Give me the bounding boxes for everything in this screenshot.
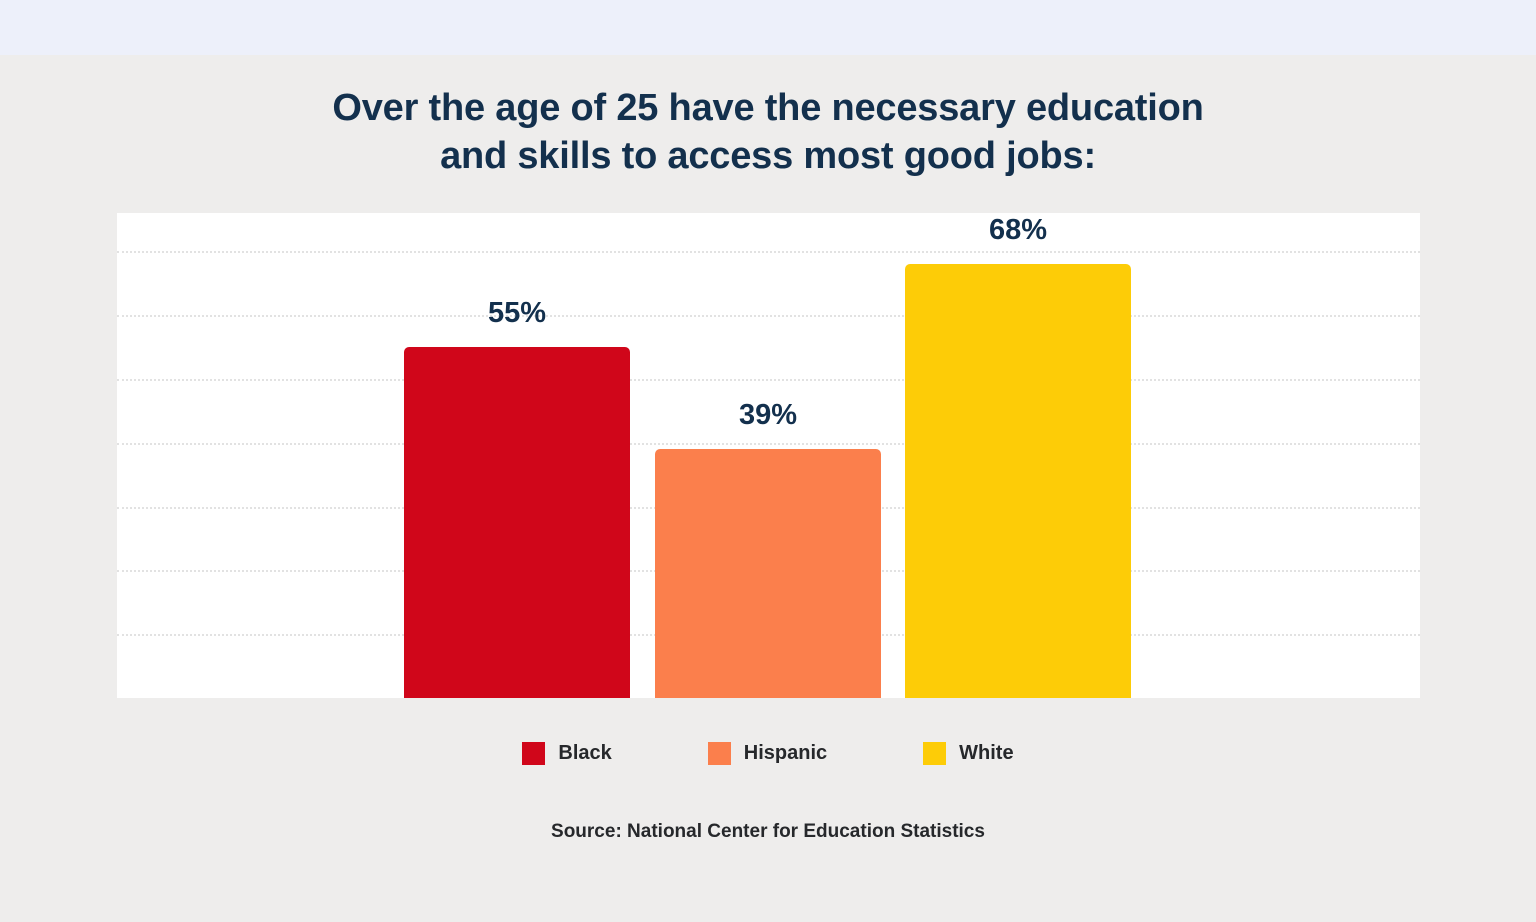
bar-value-label-black: 55% bbox=[404, 297, 630, 330]
bar-value-label-hispanic: 39% bbox=[655, 399, 881, 432]
legend-swatch-icon bbox=[708, 742, 731, 765]
bar-value-label-white: 68% bbox=[905, 214, 1131, 247]
chart-legend: BlackHispanicWhite bbox=[0, 742, 1536, 765]
page-title-line-2: and skills to access most good jobs: bbox=[0, 132, 1536, 180]
legend-swatch-icon bbox=[923, 742, 946, 765]
legend-label: Hispanic bbox=[744, 742, 827, 765]
page-title-line-1: Over the age of 25 have the necessary ed… bbox=[0, 84, 1536, 132]
page-title: Over the age of 25 have the necessary ed… bbox=[0, 84, 1536, 180]
gridline bbox=[117, 443, 1420, 445]
legend-item-black[interactable]: Black bbox=[522, 742, 611, 765]
chart-plot-area bbox=[117, 213, 1420, 698]
legend-item-hispanic[interactable]: Hispanic bbox=[708, 742, 827, 765]
legend-item-white[interactable]: White bbox=[923, 742, 1013, 765]
bar-black bbox=[404, 347, 630, 698]
legend-swatch-icon bbox=[522, 742, 545, 765]
legend-label: White bbox=[959, 742, 1013, 765]
top-decorative-band bbox=[0, 0, 1536, 55]
gridline bbox=[117, 251, 1420, 253]
gridline bbox=[117, 379, 1420, 381]
bar-hispanic bbox=[655, 449, 881, 698]
legend-label: Black bbox=[558, 742, 611, 765]
bar-white bbox=[905, 264, 1131, 698]
source-note: Source: National Center for Education St… bbox=[0, 821, 1536, 843]
gridline bbox=[117, 315, 1420, 317]
